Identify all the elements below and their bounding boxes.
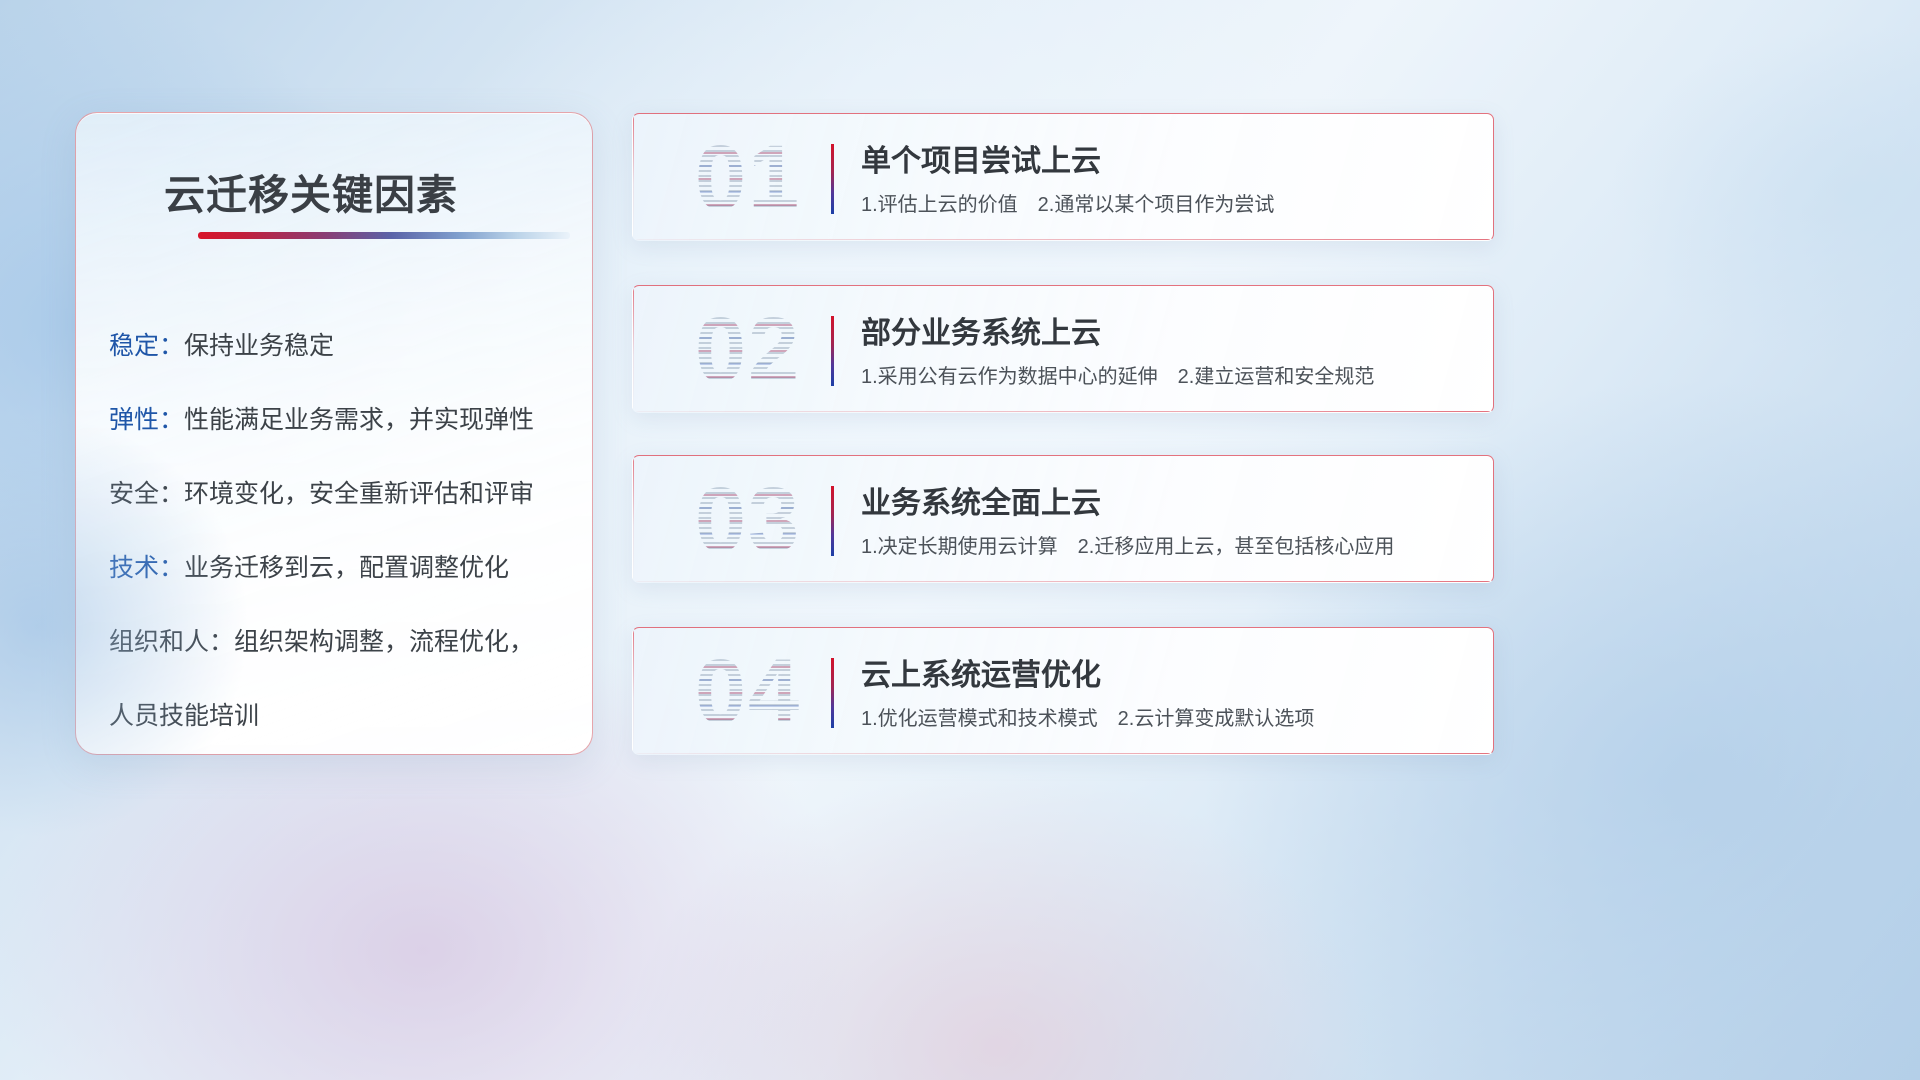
factor-value: 性能满足业务需求，并实现弹性 [184,406,534,434]
stage-card[interactable]: 01 01 单个项目尝试上云 1.评估上云的价值 2.通常以某个项目作为尝试 [632,113,1494,241]
factor-value: 人员技能培训 [109,702,259,730]
accent-divider-bar [831,658,834,728]
factor-label: 技术： [109,554,184,582]
stage-description: 1.决定长期使用云计算 2.迁移应用上云，甚至包括核心应用 [861,530,1394,559]
stage-title: 业务系统全面上云 [861,478,1101,522]
stage-description: 1.评估上云的价值 2.通常以某个项目作为尝试 [861,188,1274,217]
factor-label: 安全： [109,480,184,508]
page-title: 云迁移关键因素 [164,161,458,221]
factor-label: 组织和人： [109,628,234,656]
factor-label: 弹性： [109,406,184,434]
stage-title: 云上系统运营优化 [861,650,1101,694]
stage-card[interactable]: 03 03 业务系统全面上云 1.决定长期使用云计算 2.迁移应用上云，甚至包括… [632,455,1494,583]
list-item: 组织和人：组织架构调整，流程优化， [109,605,568,679]
factor-value: 组织架构调整，流程优化， [234,628,534,656]
key-factors-list: 稳定：保持业务稳定 弹性：性能满足业务需求，并实现弹性 安全：环境变化，安全重新… [109,309,568,753]
title-underline-rule [198,232,570,239]
accent-divider-bar [831,316,834,386]
list-item: 弹性：性能满足业务需求，并实现弹性 [109,383,568,457]
factor-value: 保持业务稳定 [184,332,334,360]
key-factors-panel: 云迁移关键因素 稳定：保持业务稳定 弹性：性能满足业务需求，并实现弹性 安全：环… [75,112,593,755]
stage-number-tint: 03 [653,466,843,574]
factor-value: 业务迁移到云，配置调整优化 [184,554,509,582]
stage-title: 部分业务系统上云 [861,308,1101,352]
stage-number-tint: 01 [653,124,843,232]
stage-card[interactable]: 04 04 云上系统运营优化 1.优化运营模式和技术模式 2.云计算变成默认选项 [632,627,1494,755]
stage-number-tint: 04 [653,638,843,746]
factor-value: 环境变化，安全重新评估和评审 [184,480,534,508]
stage-card[interactable]: 02 02 部分业务系统上云 1.采用公有云作为数据中心的延伸 2.建立运营和安… [632,285,1494,413]
stage-title: 单个项目尝试上云 [861,136,1101,180]
accent-divider-bar [831,486,834,556]
stage-description: 1.优化运营模式和技术模式 2.云计算变成默认选项 [861,702,1314,731]
factor-label: 稳定： [109,332,184,360]
accent-divider-bar [831,144,834,214]
stage-number-tint: 02 [653,296,843,404]
list-item: 人员技能培训 [109,679,568,753]
list-item: 稳定：保持业务稳定 [109,309,568,383]
slide-canvas: 云迁移关键因素 稳定：保持业务稳定 弹性：性能满足业务需求，并实现弹性 安全：环… [0,0,1920,1080]
stage-description: 1.采用公有云作为数据中心的延伸 2.建立运营和安全规范 [861,360,1374,389]
list-item: 安全：环境变化，安全重新评估和评审 [109,457,568,531]
list-item: 技术：业务迁移到云，配置调整优化 [109,531,568,605]
